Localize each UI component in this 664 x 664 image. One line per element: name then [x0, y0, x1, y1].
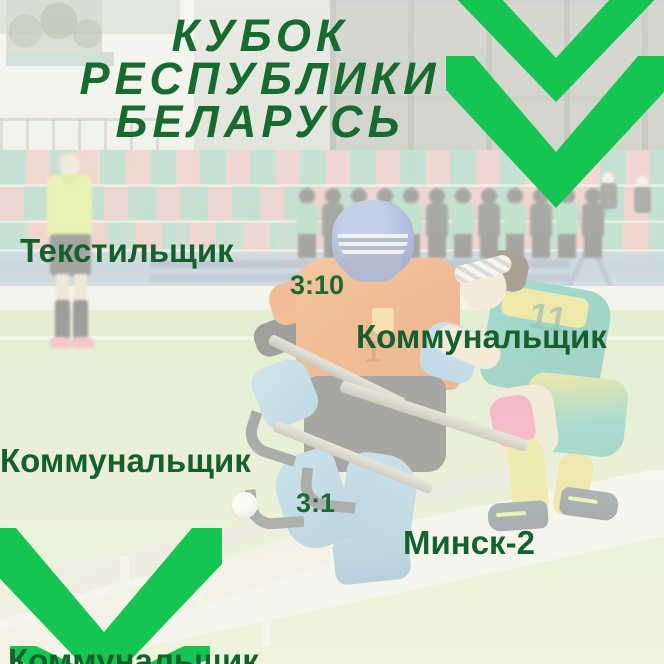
match-2-score: 3:1: [296, 488, 335, 518]
match-2-home-team: Коммунальщик: [0, 442, 251, 480]
title-line-2: РЕСПУБЛИКИ: [0, 57, 520, 100]
title-line-1: КУБОК: [0, 14, 520, 57]
tournament-poster: 1 11: [0, 0, 664, 664]
match-1-away-team: Коммунальщик: [356, 318, 607, 356]
poster-title: КУБОК РЕСПУБЛИКИ БЕЛАРУСЬ: [0, 14, 520, 143]
match-2-away-team: Минск-2: [403, 524, 535, 562]
match-1-home-team: Текстильщик: [20, 232, 234, 270]
title-line-3: БЕЛАРУСЬ: [0, 100, 520, 143]
clipped-bottom-team-label: Коммунальщик: [8, 642, 259, 664]
match-1-score: 3:10: [290, 270, 344, 300]
text-overlay: КУБОК РЕСПУБЛИКИ БЕЛАРУСЬ Текстильщик 3:…: [0, 0, 664, 664]
